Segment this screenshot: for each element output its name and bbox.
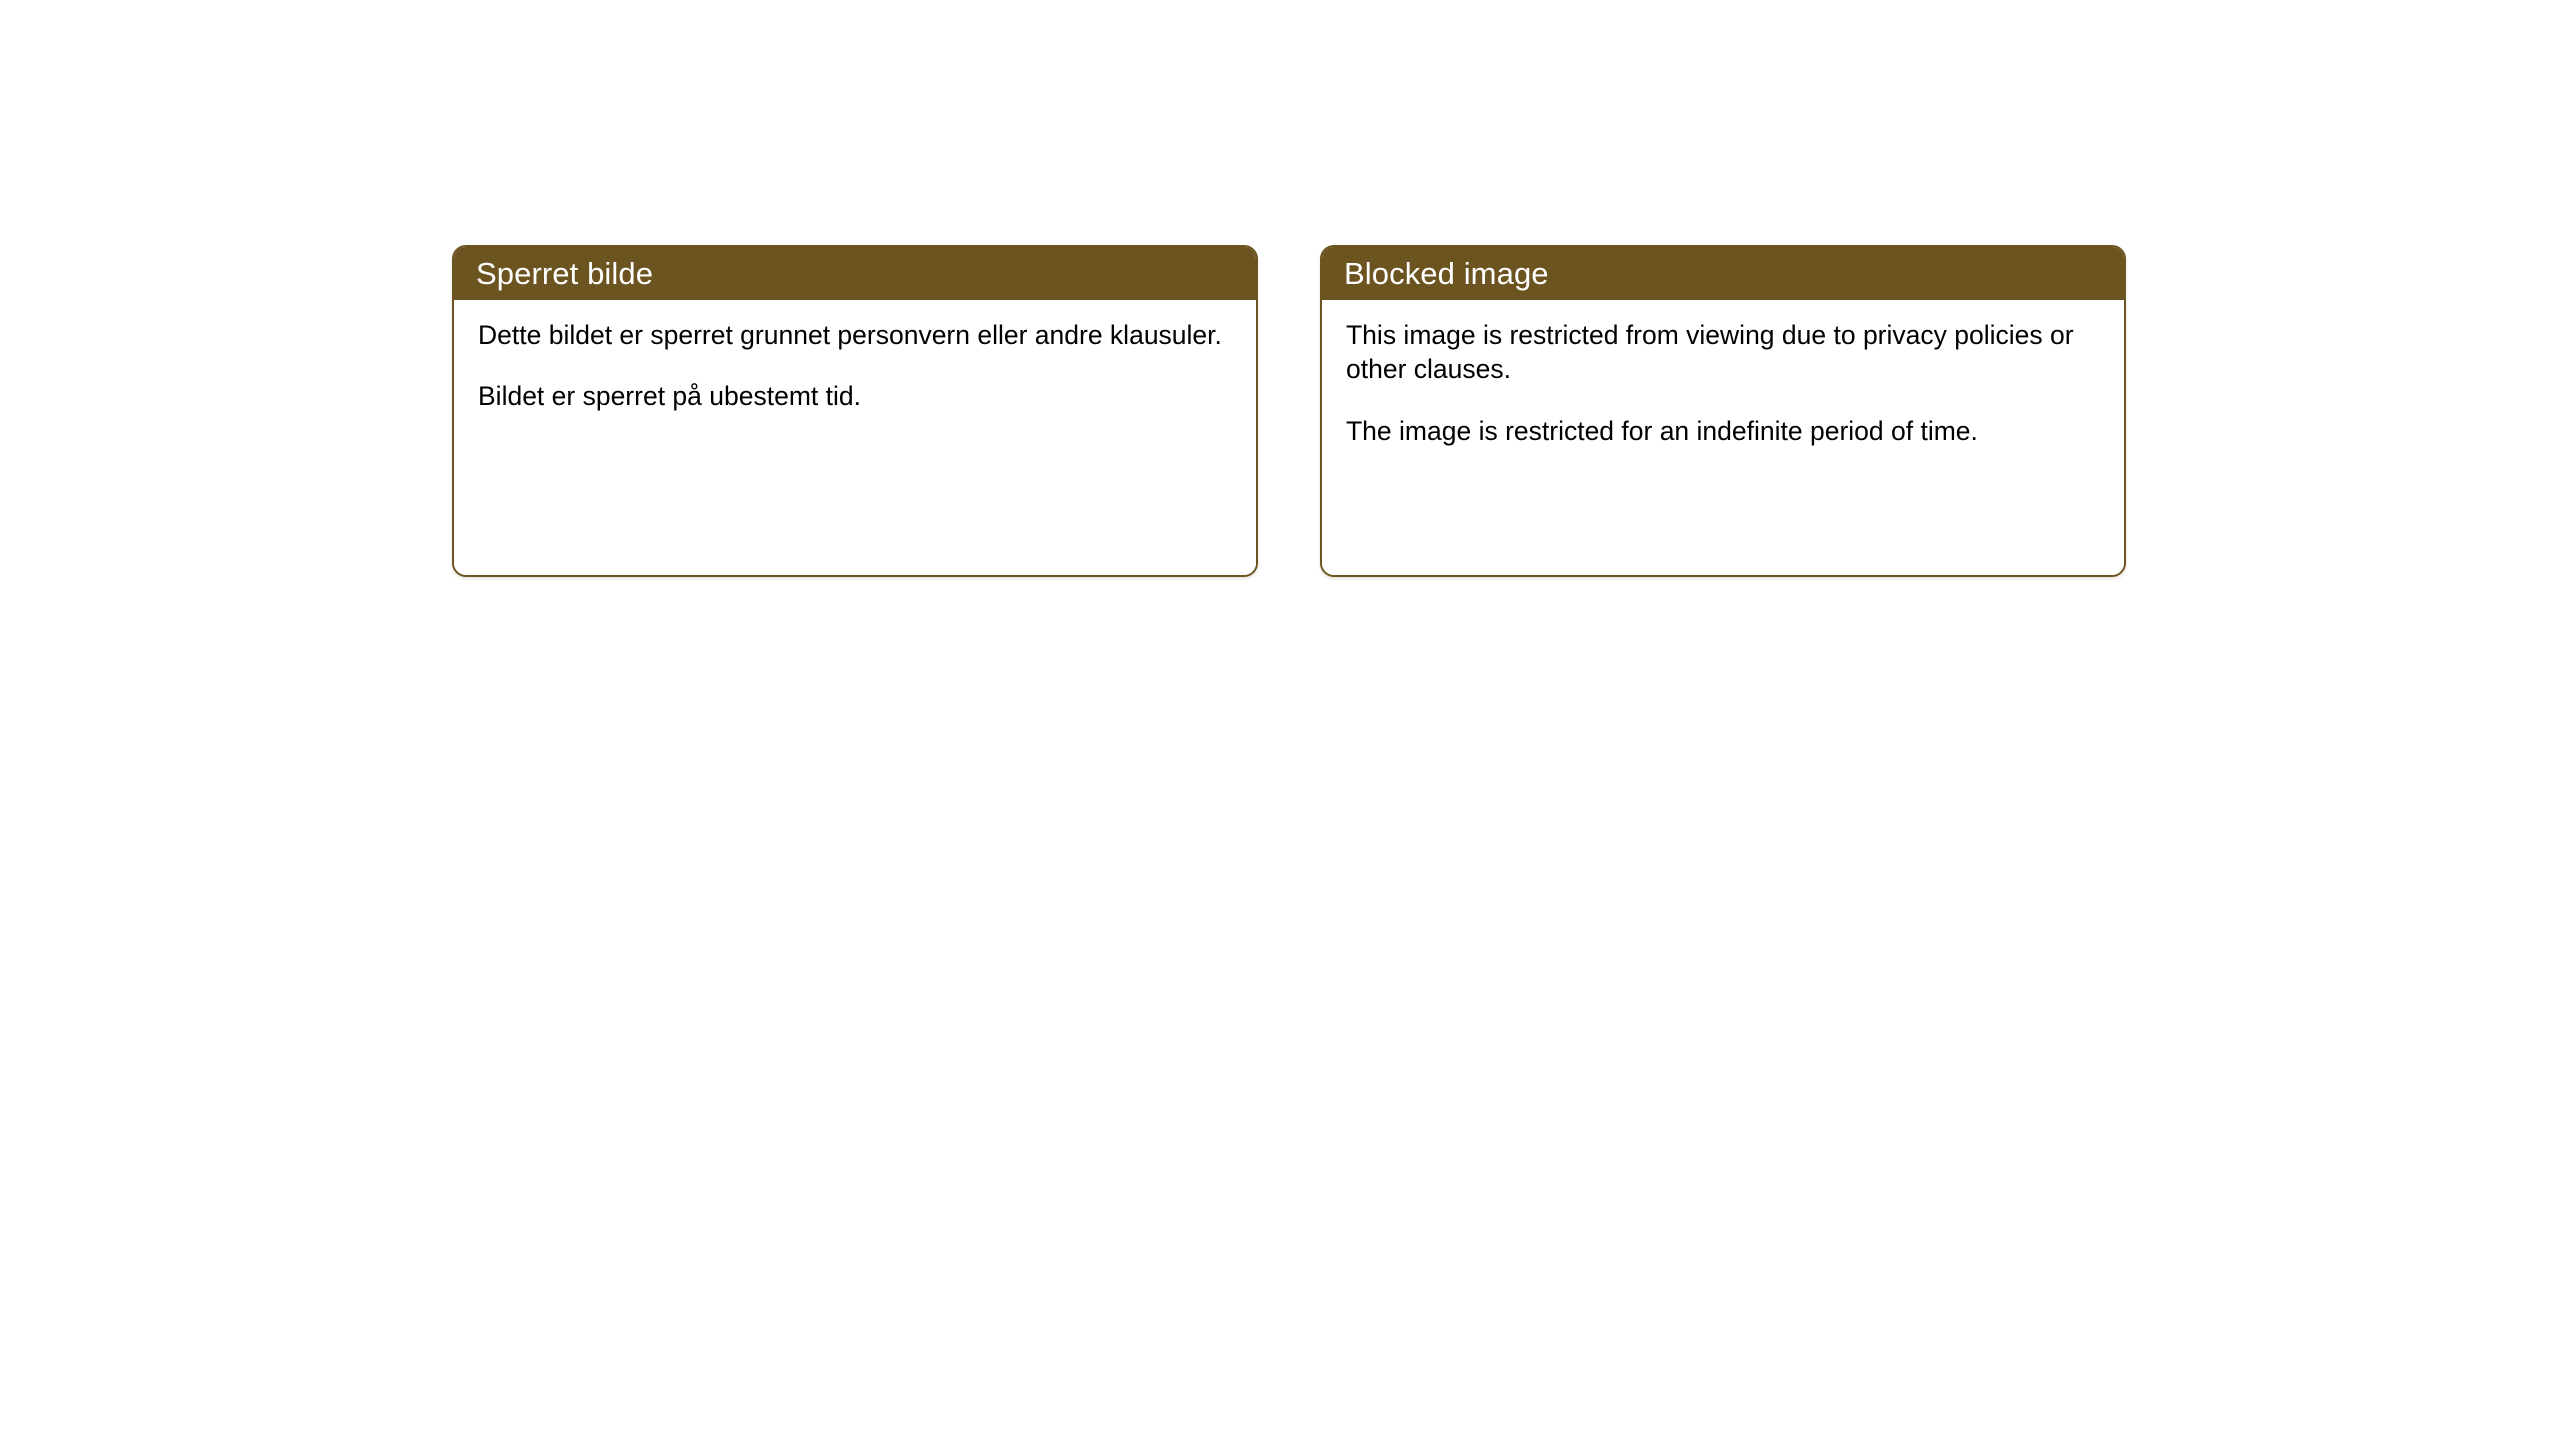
card-body-english: This image is restricted from viewing du… bbox=[1322, 300, 2124, 575]
card-paragraph-norwegian-1: Dette bildet er sperret grunnet personve… bbox=[478, 318, 1230, 352]
card-header-english: Blocked image bbox=[1322, 247, 2124, 300]
blocked-image-card-english: Blocked image This image is restricted f… bbox=[1320, 245, 2126, 577]
card-paragraph-english-2: The image is restricted for an indefinit… bbox=[1346, 414, 2098, 448]
blocked-image-card-norwegian: Sperret bilde Dette bildet er sperret gr… bbox=[452, 245, 1258, 577]
card-title-english: Blocked image bbox=[1344, 258, 1549, 289]
paragraph-spacer bbox=[1346, 387, 2098, 414]
card-body-norwegian: Dette bildet er sperret grunnet personve… bbox=[454, 300, 1256, 575]
card-title-norwegian: Sperret bilde bbox=[476, 258, 653, 289]
card-paragraph-norwegian-2: Bildet er sperret på ubestemt tid. bbox=[478, 379, 1230, 413]
paragraph-spacer bbox=[478, 352, 1230, 379]
card-header-norwegian: Sperret bilde bbox=[454, 247, 1256, 300]
card-paragraph-english-1: This image is restricted from viewing du… bbox=[1346, 318, 2098, 387]
blocked-image-notice-area: Sperret bilde Dette bildet er sperret gr… bbox=[452, 245, 2126, 577]
